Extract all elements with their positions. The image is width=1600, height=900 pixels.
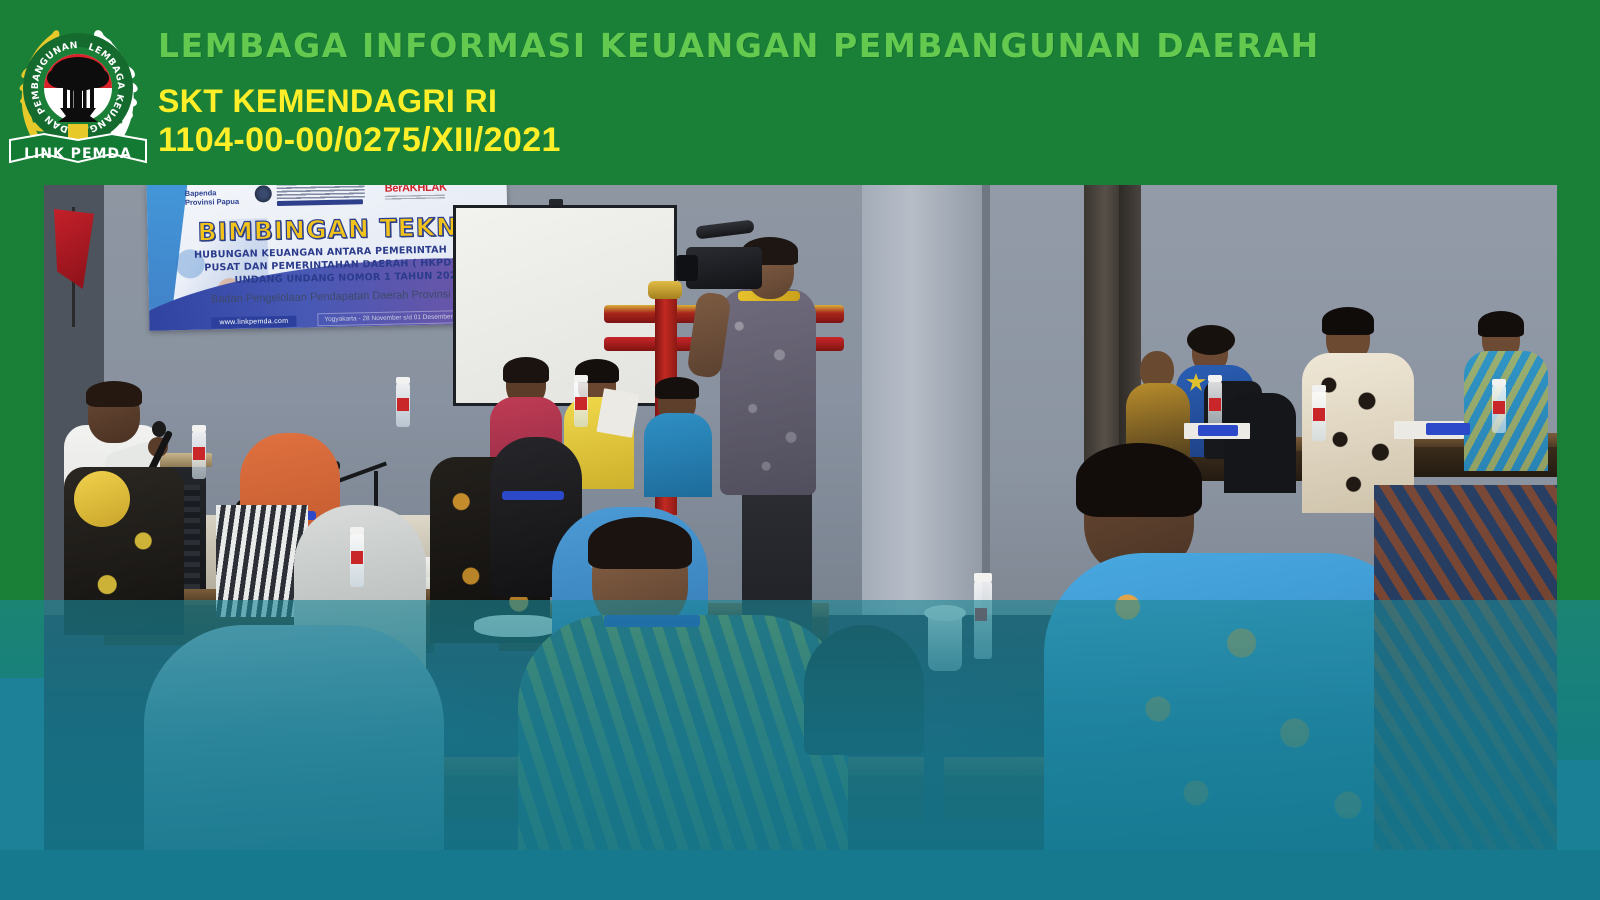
water-bottle [1492,385,1506,433]
speaker-hair [86,381,142,407]
handout-paper [596,388,639,438]
banner-government-seal-icon [255,185,272,202]
skt-number-line1: SKT KEMENDAGRI RI [158,82,1578,120]
banner-title: BIMBINGAN TEKNIS [197,212,487,247]
banner-berakhlak-logo: BerAKHLAK [385,185,447,195]
banner-bapenda-line2: Provinsi Papua [185,197,239,207]
attendee-lanyard [502,491,564,500]
banner-center-bar [277,199,363,206]
banner-page: LEMBAGA KEUANGAN DAN PEMBANGUNAN DAERAH [0,0,1600,900]
ornamental-pole-cap [648,281,682,299]
water-bottle-cap [574,375,588,382]
header-text-block: LEMBAGA INFORMASI KEUANGAN PEMBANGUNAN D… [158,26,1578,160]
organization-title: LEMBAGA INFORMASI KEUANGAN PEMBANGUNAN D… [158,26,1578,66]
banner-center-microtext [277,185,365,200]
water-bottle-cap [350,527,364,534]
water-bottle [350,533,364,587]
water-bottle-cap [192,425,206,432]
attendee-body [1464,351,1548,471]
water-bottle [192,431,206,479]
attendee-hair [1322,307,1374,335]
water-bottle [574,381,588,427]
logo-ribbon-text: LINK PEMDA [24,146,132,162]
blue-folder [1198,425,1238,436]
attendee-hair-bun [1187,325,1235,355]
banner-bapenda-label: Bapenda Provinsi Papua [185,188,240,207]
teal-overlay-left-edge [0,678,44,850]
video-camera-lens [676,255,698,281]
attendee-hair [655,377,699,399]
attendee-body [644,413,712,497]
water-bottle [396,383,410,427]
water-bottle-cap [974,573,992,582]
foreground-right-hair [1076,443,1202,517]
attendee-black-outfit [1224,393,1296,493]
link-pemda-logo: LEMBAGA KEUANGAN DAN PEMBANGUNAN DAERAH [4,12,152,170]
water-bottle-cap [1492,379,1506,386]
water-bottle-cap [1208,375,1222,382]
water-bottle-cap [396,377,410,384]
blue-folder [1426,423,1470,435]
videographer-batik-shirt [720,289,816,495]
foreground-man-hair [588,517,692,569]
water-bottle [1312,391,1326,441]
banner-berakhlak-subtext [385,195,445,201]
page-header: LEMBAGA KEUANGAN DAN PEMBANGUNAN DAERAH [0,0,1600,180]
attendee-hair [1478,311,1524,337]
teal-footer-band [0,850,1600,900]
attendee-yellow-headwrap [74,471,130,527]
teal-overlay-right-edge [1557,760,1600,850]
banner-website-url: www.linkpemda.com [211,316,296,329]
water-bottle-cap [1312,385,1326,392]
skt-number-line2: 1104-00-00/0275/XII/2021 [158,120,1578,160]
attendee-hair [503,357,549,383]
handheld-microphone-head [152,421,166,437]
